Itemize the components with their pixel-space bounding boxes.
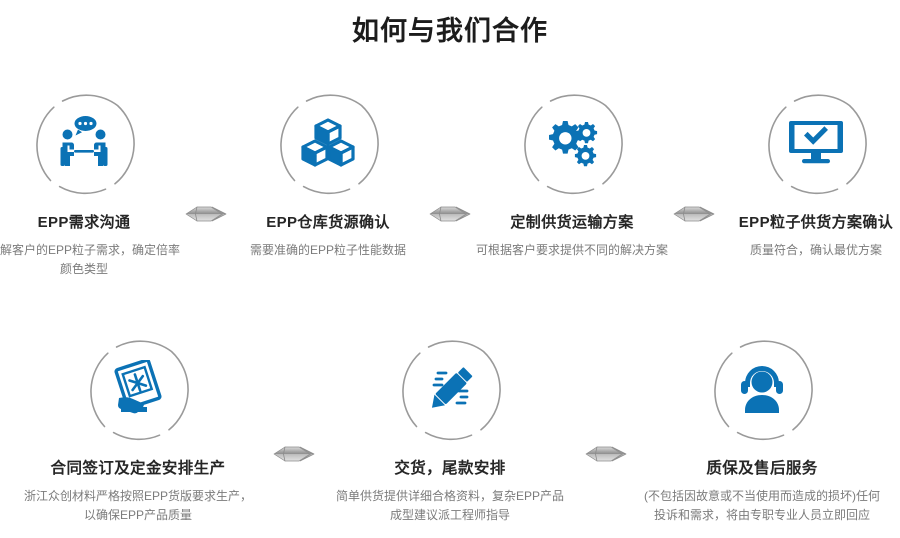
cubes-inventory-icon [297, 112, 359, 174]
step-title: EPP粒子供货方案确认 [739, 212, 893, 234]
step-icon-circle [269, 84, 387, 202]
headset-support-icon [731, 358, 793, 420]
step-description: 了解客户的EPP粒子需求，确定倍率颜色类型 [0, 241, 184, 279]
process-step-4[interactable]: EPP粒子供货方案确认 质量符合，确认最优方案 [716, 84, 900, 260]
step-description: (不包括因故意或不当使用而造成的损坏)任何投诉和需求，将由专职专业人员立即回应 [644, 487, 880, 525]
step-icon-circle [513, 84, 631, 202]
meeting-discussion-icon [53, 112, 115, 174]
process-row-bottom: 合同签订及定金安排生产 浙江众创材料严格按照EPP货版要求生产，以确保EPP产品… [0, 330, 900, 525]
step-description: 质量符合，确认最优方案 [716, 241, 900, 260]
process-row-top: EPP需求沟通 了解客户的EPP粒子需求，确定倍率颜色类型 [0, 84, 900, 279]
step-title: 质保及售后服务 [706, 458, 817, 480]
process-step-5[interactable]: 合同签订及定金安排生产 浙江众创材料严格按照EPP货版要求生产，以确保EPP产品… [4, 330, 272, 525]
process-step-7[interactable]: 质保及售后服务 (不包括因故意或不当使用而造成的损坏)任何投诉和需求，将由专职专… [628, 330, 896, 525]
pen-writing-icon [419, 358, 481, 420]
step-arrow-2 [428, 202, 472, 226]
step-icon-circle [391, 330, 509, 448]
step-description: 需要准确的EPP粒子性能数据 [228, 241, 428, 260]
step-description: 简单供货提供详细合格资料，复杂EPP产品成型建议派工程师指导 [332, 487, 568, 525]
step-icon-circle [757, 84, 875, 202]
step-description: 浙江众创材料严格按照EPP货版要求生产，以确保EPP产品质量 [20, 487, 256, 525]
step-arrow-3 [672, 202, 716, 226]
monitor-check-icon [785, 112, 847, 174]
process-step-3[interactable]: 定制供货运输方案 可根据客户要求提供不同的解决方案 [472, 84, 672, 260]
step-icon-circle [79, 330, 197, 448]
step-icon-circle [25, 84, 143, 202]
step-arrow-1 [184, 202, 228, 226]
hand-signing-document-icon [107, 358, 169, 420]
step-arrow-5 [584, 442, 628, 466]
step-icon-circle [703, 330, 821, 448]
step-title: 交货，尾款安排 [394, 458, 505, 480]
step-title: 定制供货运输方案 [510, 212, 633, 234]
step-title: EPP仓库货源确认 [266, 212, 390, 234]
page-title: 如何与我们合作 [0, 12, 900, 50]
step-arrow-4 [272, 442, 316, 466]
gears-settings-icon [541, 112, 603, 174]
process-step-1[interactable]: EPP需求沟通 了解客户的EPP粒子需求，确定倍率颜色类型 [0, 84, 184, 279]
process-step-6[interactable]: 交货，尾款安排 简单供货提供详细合格资料，复杂EPP产品成型建议派工程师指导 [316, 330, 584, 525]
step-title: EPP需求沟通 [38, 212, 131, 234]
process-step-2[interactable]: EPP仓库货源确认 需要准确的EPP粒子性能数据 [228, 84, 428, 260]
step-title: 合同签订及定金安排生产 [51, 458, 226, 480]
step-description: 可根据客户要求提供不同的解决方案 [472, 241, 672, 260]
cooperation-process-page: 如何与我们合作 [0, 0, 900, 538]
